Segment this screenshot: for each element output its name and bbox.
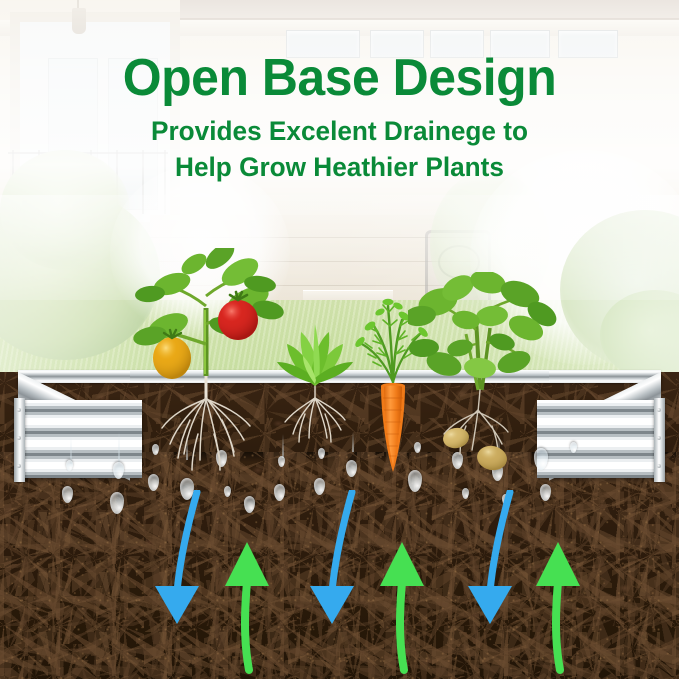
air-up-arrow-3 bbox=[536, 542, 580, 670]
water-down-arrow-2 bbox=[310, 492, 354, 624]
water-droplet bbox=[113, 462, 124, 479]
headline-banner: Open Base Design Provides Excelent Drain… bbox=[0, 40, 679, 208]
air-up-arrow-2 bbox=[380, 542, 424, 670]
porch-lantern bbox=[72, 8, 86, 34]
rivet-icon bbox=[657, 408, 661, 412]
subtitle-line-1: Provides Excelent Drainege to bbox=[10, 114, 669, 148]
product-infographic: Open Base Design Provides Excelent Drain… bbox=[0, 0, 679, 679]
water-down-arrow-1 bbox=[155, 492, 199, 624]
page-title: Open Base Design bbox=[14, 52, 666, 104]
potato-plant bbox=[408, 272, 558, 487]
water-droplet bbox=[570, 442, 577, 453]
drainage-flow-arrows bbox=[0, 490, 679, 679]
rivet-icon bbox=[17, 408, 21, 412]
water-down-arrow-3 bbox=[468, 492, 512, 624]
air-up-arrow-1 bbox=[225, 542, 269, 670]
subtitle-line-2: Help Grow Heathier Plants bbox=[10, 150, 669, 184]
tomato-plant bbox=[128, 248, 288, 488]
carrot-root bbox=[381, 383, 405, 472]
lettuce-roots bbox=[285, 384, 345, 442]
tomato-leaves bbox=[132, 248, 286, 348]
droplet-trail bbox=[118, 432, 120, 464]
potato-leaves bbox=[408, 272, 558, 380]
tomato-roots bbox=[162, 376, 250, 470]
water-droplet bbox=[66, 460, 73, 471]
lettuce-leaves bbox=[277, 324, 353, 386]
